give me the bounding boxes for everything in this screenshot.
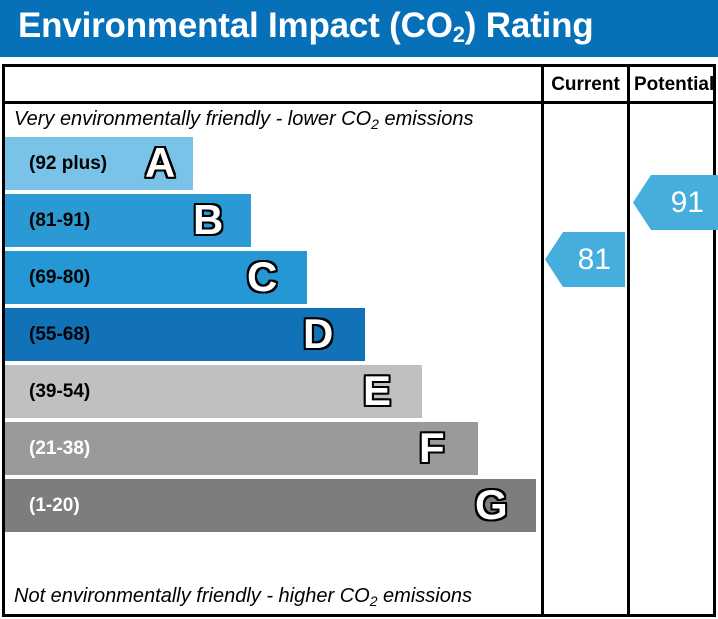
- band-letter-c: C: [247, 251, 277, 304]
- rating-arrow-potential: 91: [633, 175, 718, 230]
- column-header-current: Current: [544, 70, 627, 100]
- band-range-label-f: (21-38): [29, 422, 90, 475]
- band-range-label-b: (81-91): [29, 194, 90, 247]
- band-letter-a: A: [145, 137, 175, 190]
- rating-band-e: (39-54)E: [5, 365, 422, 418]
- band-range-label-d: (55-68): [29, 308, 90, 361]
- band-range-label-g: (1-20): [29, 479, 80, 532]
- rating-band-g: (1-20)G: [5, 479, 536, 532]
- rating-band-b: (81-91)B: [5, 194, 251, 247]
- header-row-divider: [2, 101, 716, 104]
- caption-bottom: Not environmentally friendly - higher CO…: [14, 585, 472, 608]
- rating-band-c: (69-80)C: [5, 251, 307, 304]
- band-letter-f: F: [419, 422, 445, 475]
- rating-band-f: (21-38)F: [5, 422, 478, 475]
- band-range-label-e: (39-54): [29, 365, 90, 418]
- column-divider-potential: [627, 64, 630, 617]
- chart-title-bar: Environmental Impact (CO2) Rating: [0, 0, 718, 57]
- band-range-label-a: (92 plus): [29, 137, 107, 190]
- column-divider-current: [541, 64, 544, 617]
- rating-band-d: (55-68)D: [5, 308, 365, 361]
- band-letter-g: G: [475, 479, 508, 532]
- column-header-potential: Potential: [630, 70, 718, 100]
- page-title: Environmental Impact (CO2) Rating: [18, 6, 593, 46]
- band-letter-d: D: [303, 308, 333, 361]
- band-letter-b: B: [193, 194, 223, 247]
- band-range-label-c: (69-80): [29, 251, 90, 304]
- epc-environmental-impact-chart: Environmental Impact (CO2) Rating Curren…: [0, 0, 718, 619]
- band-letter-e: E: [363, 365, 391, 418]
- caption-top: Very environmentally friendly - lower CO…: [14, 108, 473, 131]
- rating-band-a: (92 plus)A: [5, 137, 193, 190]
